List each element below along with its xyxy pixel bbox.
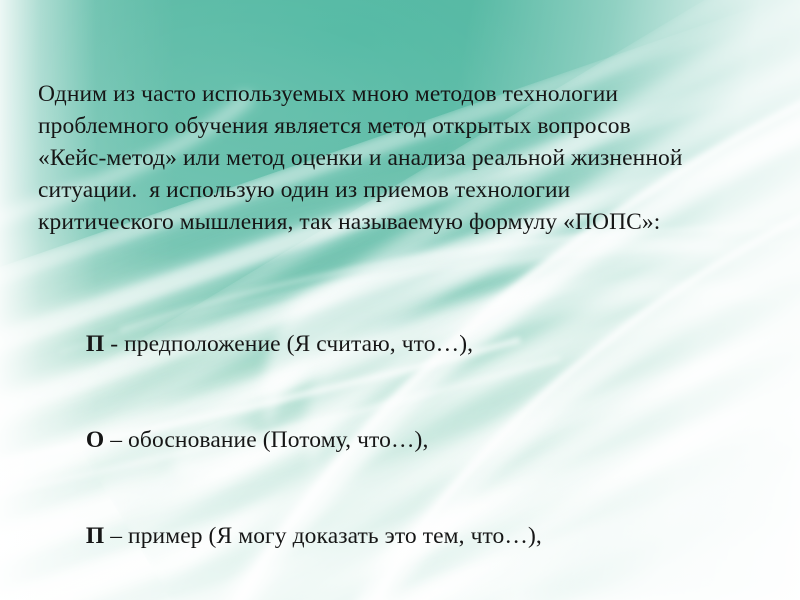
formula-key-1: П: [86, 331, 104, 357]
formula-dash-glyph-1: -: [110, 331, 118, 357]
formula-key-2: О: [86, 427, 104, 453]
slide-canvas: Одним из часто используемых мною методов…: [0, 0, 800, 600]
formula-key-3: П: [86, 523, 104, 549]
formula-line-1: П - предположение (Я считаю, что…),: [38, 296, 738, 392]
formula-line-3: П – пример (Я могу доказать это тем, что…: [38, 488, 738, 584]
formula-line-4: С – следовательно (Я делаю вывод…): [38, 584, 738, 600]
formula-text-3: пример (Я могу доказать это тем, что…),: [128, 523, 542, 549]
pops-formula-list: П - предположение (Я считаю, что…), О – …: [38, 296, 738, 600]
body-paragraph: Одним из часто используемых мною методов…: [38, 78, 698, 238]
formula-dash-glyph-3: –: [110, 523, 122, 549]
formula-text-2: обоснование (Потому, что…),: [128, 427, 428, 453]
formula-dash-glyph-2: –: [110, 427, 122, 453]
formula-line-2: О – обоснование (Потому, что…),: [38, 392, 738, 488]
slide-content: Одним из часто используемых мною методов…: [0, 0, 800, 600]
formula-text-1: предположение (Я считаю, что…),: [124, 331, 473, 357]
